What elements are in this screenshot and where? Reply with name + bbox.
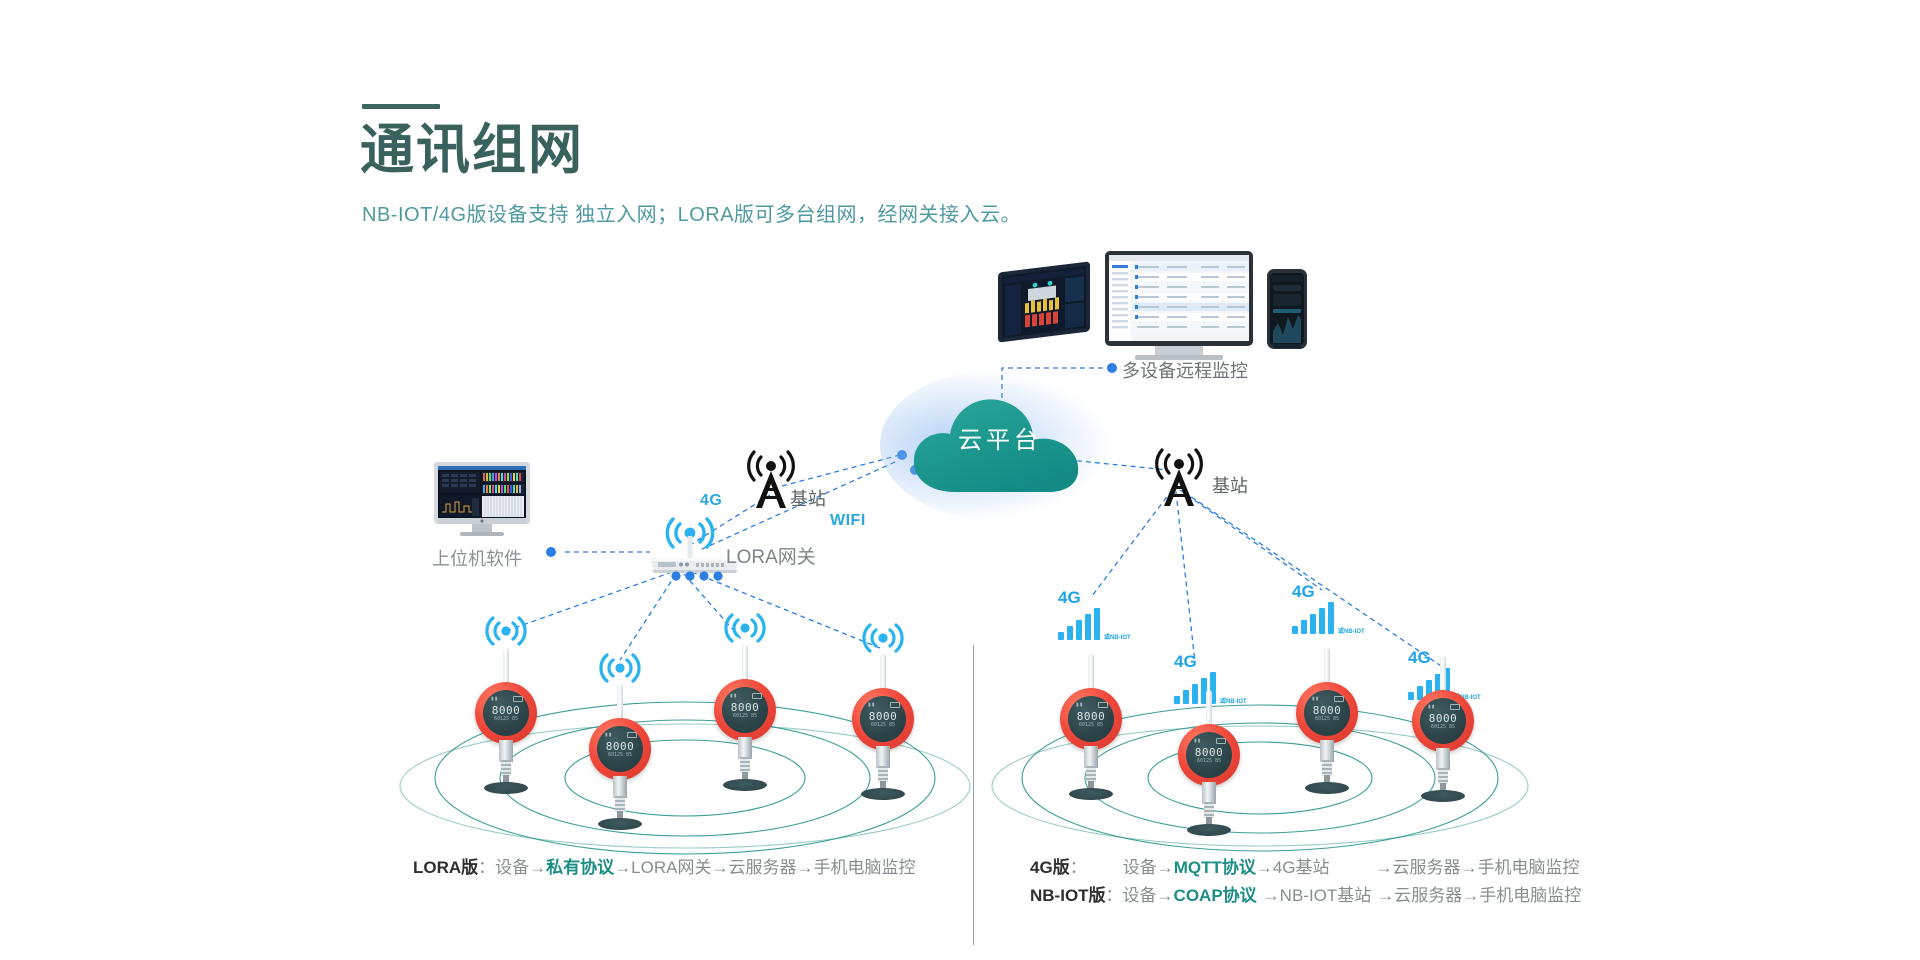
base-station-right-icon [1148,448,1210,510]
battery-icon [1098,702,1108,708]
battery-icon [890,702,900,708]
signal-4g-tag: 4G [1174,652,1197,672]
base-station-left-label: 基站 [790,485,826,511]
signal-bars-icon: ▮▮ [1428,704,1436,710]
gauge-thread [615,796,625,812]
gauge-subvalue: 60125 85 [1068,722,1114,728]
gauge-neck [1084,746,1098,768]
gauge-subvalue: 60125 85 [860,722,906,728]
gauge-base-pad [1305,782,1349,794]
gauge-neck [1202,782,1216,804]
gauge-neck [499,740,513,762]
gauge-neck [1436,748,1450,770]
gauge-base-pad [1069,788,1113,800]
section-divider [973,645,974,945]
gauge-base-pad [484,782,528,794]
gauge-neck [1320,740,1334,762]
link-tag-wifi: WIFI [830,512,866,530]
legend-lora-prefix: LORA版 [413,858,478,877]
gauge-neck [876,746,890,768]
battery-icon [752,693,762,699]
gauge-neck [738,737,752,759]
signal-4g-tag: 4G [1408,648,1431,668]
signal-note: 或NB-IOT [1338,626,1365,635]
legend-4g-mid: 设备→ [1123,858,1174,877]
battery-icon [1450,704,1460,710]
gauge-subvalue: 60125 85 [722,713,768,719]
wifi-icon [483,615,529,651]
gauge-neck [613,776,627,798]
signal-bars-icon: ▮▮ [605,732,613,738]
battery-icon [1334,696,1344,702]
diagram-canvas: 通讯组网 NB-IOT/4G版设备支持 独立入网；LORA版可多台组网，经网关接… [0,0,1920,960]
signal-bars-icon: ▮▮ [1076,702,1084,708]
cloud-platform-label: 云平台 [900,420,1100,455]
gauge-base-pad [598,818,642,830]
base-station-right-label: 基站 [1212,472,1248,498]
host-software-label: 上位机软件 [432,545,522,571]
gauge-thread [501,760,511,776]
legend-lora-colon: ：设备→ [478,858,546,877]
legend-lora-suffix: →LORA网关→云服务器→手机电脑监控 [614,858,915,877]
battery-icon [627,732,637,738]
signal-bars-icon: ▮▮ [1194,738,1202,744]
legend-nbiot-prefix: NB-IOT版 [1030,886,1106,905]
legend-4g-suffix: →4G基站 [1256,858,1330,877]
legend-4g-protocol: MQTT协议 [1174,858,1256,877]
host-software-monitor [432,462,532,542]
gauge-subvalue: 60125 85 [597,752,643,758]
lora-gateway-label: LORA网关 [726,542,816,569]
wifi-icon [597,652,643,688]
signal-bars-icon: ▮▮ [1312,696,1320,702]
legend-nbiot: NB-IOT版：设备→COAP协议→NB-IOT基站→云服务器→手机电脑监控 [1030,882,1581,910]
signal-note: 或NB-IOT [1220,696,1247,705]
gauge-thread [1322,760,1332,776]
gauge-subvalue: 60125 85 [483,716,529,722]
gauge-thread [1204,802,1214,818]
gauge-thread [1086,766,1096,782]
gauge-thread [878,766,888,782]
battery-icon [1216,738,1226,744]
legend-nbiot-protocol: COAP协议 [1174,886,1257,905]
legend-nbiot-suffix: →NB-IOT基站 [1263,886,1372,905]
gauge-subvalue: 60125 85 [1304,716,1350,722]
wifi-icon [860,622,906,658]
legend-lora: LORA版：设备→私有协议→LORA网关→云服务器→手机电脑监控 [413,854,915,882]
signal-bars-icon: ▮▮ [730,693,738,699]
legend-nbiot-tail: →云服务器→手机电脑监控 [1377,886,1581,905]
legend-nbiot-colon: ：设备→ [1106,886,1174,905]
gauge-base-pad [861,788,905,800]
wifi-icon [722,612,768,648]
legend-4g-prefix: 4G版 [1030,858,1070,877]
gauge-thread [1438,768,1448,784]
gauge-thread [740,757,750,773]
gauge-base-pad [1187,824,1231,836]
battery-icon [513,696,523,702]
link-tag-4g: 4G [700,492,722,510]
signal-4g-tag: 4G [1292,582,1315,602]
signal-note: 或NB-IOT [1104,632,1131,641]
legend-lora-protocol: 私有协议 [546,858,614,877]
gauge-base-pad [723,779,767,791]
gauge-base-pad [1421,790,1465,802]
legend-4g-colon: ： [1070,858,1087,877]
legend-4g-tail: →云服务器→手机电脑监控 [1376,858,1580,877]
legend-4g: 4G版：设备→MQTT协议→4G基站→云服务器→手机电脑监控 [1030,854,1580,882]
gauge-subvalue: 60125 85 [1186,758,1232,764]
gauge-subvalue: 60125 85 [1420,724,1466,730]
signal-bars-icon: ▮▮ [868,702,876,708]
signal-4g-tag: 4G [1058,588,1081,608]
signal-bars-icon: ▮▮ [491,696,499,702]
